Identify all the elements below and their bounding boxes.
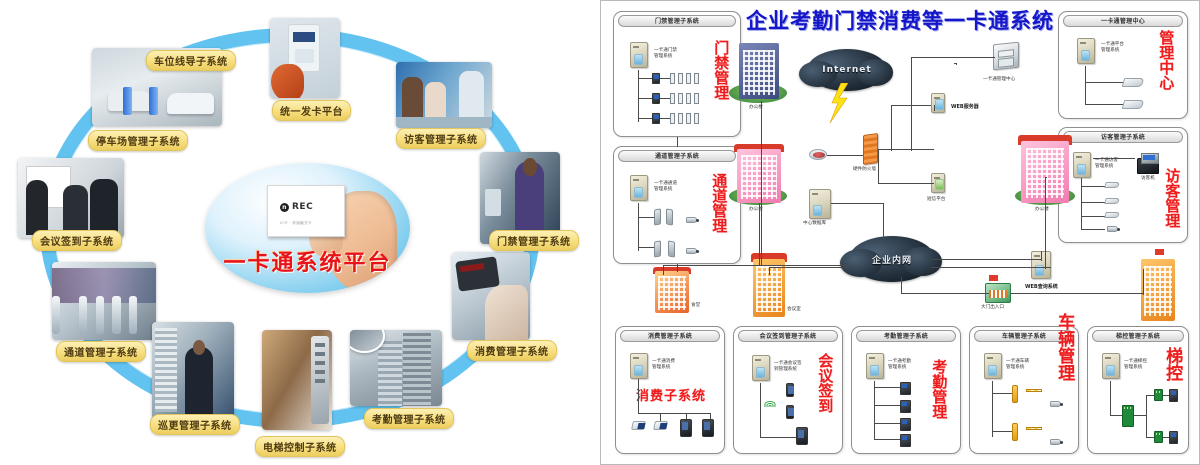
door-icon (686, 93, 691, 104)
barrier-post-icon (1012, 385, 1018, 403)
intranet-cloud-label: 企业内网 (849, 236, 935, 282)
photo-visitor-reception (396, 62, 492, 128)
door-icon (678, 113, 683, 124)
controller-board-icon (1154, 431, 1163, 443)
reader-device-icon (1104, 212, 1120, 218)
panel-header-consumption: 消费管理子系统 (620, 330, 720, 342)
photo-patrol-guard (152, 322, 234, 420)
screenshot-canvas: n REC IC卡 · 非接触式卡 一卡通系统平台 (0, 0, 1200, 465)
entrance-flag-icon (989, 275, 998, 281)
server-icon (1073, 152, 1091, 178)
tag-parking-guide[interactable]: 车位线导子系统 (146, 50, 236, 71)
central-database-label: 中心数据库 (803, 221, 826, 227)
door-icon (694, 113, 699, 124)
server-icon (630, 42, 648, 68)
panel-header-management-center: 一卡通管理中心 (1063, 15, 1183, 27)
panel-elevator[interactable]: 梯控管理子系统 一卡通梯控管理系统 梯控 (1087, 326, 1189, 454)
camera-icon (686, 217, 697, 223)
photo-pos-terminal (452, 252, 530, 340)
turnstile-icon (666, 208, 673, 225)
tower-flag-icon (1155, 249, 1164, 255)
attendance-terminal-icon (900, 400, 911, 413)
sms-platform-label: 短信平台 (927, 197, 945, 203)
barrier-post-icon (1012, 423, 1018, 441)
internet-cloud-label: Internet (807, 49, 887, 91)
panel-attendance[interactable]: 考勤管理子系统 一卡通考勤管理系统 考勤管理 (851, 326, 961, 454)
photo-elevator-keypad (262, 330, 332, 430)
center-platform-title: 一卡通系统平台 (205, 245, 410, 277)
server-label-attendance: 一卡通考勤管理系统 (888, 359, 911, 371)
card-center-label: 一卡通管理中心 (983, 77, 1015, 83)
tag-visitor[interactable]: 访客管理子系统 (396, 128, 486, 149)
door-icon (694, 73, 699, 84)
tag-access[interactable]: 门禁管理子系统 (489, 230, 579, 251)
server-label-meeting: 一卡通会议签到管理系统 (774, 361, 802, 373)
server-icon (1077, 38, 1095, 64)
device-label-visitor-machine: 访客机 (1141, 176, 1155, 182)
rfid-card-image: n REC IC卡 · 非接触式卡 (267, 185, 345, 237)
router-icon (809, 149, 827, 160)
server-icon (866, 353, 884, 379)
camera-icon (686, 248, 697, 254)
tag-elevator[interactable]: 电梯控制子系统 (255, 436, 345, 457)
server-label-vehicle: 一卡通车辆管理系统 (1006, 359, 1029, 371)
pos-terminal-icon (653, 421, 668, 430)
camera-icon (1050, 401, 1061, 407)
elevator-reader-icon (1169, 431, 1178, 444)
door-icon (686, 113, 691, 124)
firewall-label: 硬件防火墙 (853, 167, 876, 173)
signin-terminal-icon (796, 427, 808, 445)
visitor-terminal-icon (1137, 158, 1159, 174)
turnstile-icon (654, 240, 661, 257)
web-server-label: WEB服务器 (951, 103, 979, 110)
consumption-terminal-icon (702, 419, 714, 437)
mobile-signin-icon (786, 383, 794, 397)
server-icon (1102, 353, 1120, 379)
panel-accent-elevator: 梯控 (1164, 347, 1180, 381)
photo-office-tower (350, 330, 442, 406)
server-icon (984, 353, 1002, 379)
door-icon (670, 113, 675, 124)
attendance-terminal-icon (900, 418, 911, 431)
barrier-arm-icon (1026, 427, 1042, 430)
panel-header-visitor-mgmt: 访客管理子系统 (1063, 131, 1183, 143)
server-label-access: 一卡通门禁管理系统 (654, 48, 677, 60)
internet-cloud: Internet (807, 49, 887, 91)
wifi-icon (764, 401, 776, 410)
tag-consume[interactable]: 消费管理子系统 (467, 340, 557, 361)
card-reader-icon (652, 93, 660, 104)
panel-header-channel-control: 通道管理子系统 (618, 150, 736, 162)
panel-meeting-signin[interactable]: 会议签到管理子系统 一卡通会议签到管理系统 会议签到 (733, 326, 843, 454)
photo-turnstile-gate (52, 262, 156, 340)
elevator-reader-icon (1169, 389, 1178, 402)
server-label-elevator: 一卡通梯控管理系统 (1124, 359, 1147, 371)
tag-patrol[interactable]: 巡更管理子系统 (150, 414, 240, 435)
office-building-pink-left-icon (737, 149, 781, 203)
tag-card-issue[interactable]: 统一发卡平台 (272, 100, 351, 121)
turnstile-icon (668, 240, 675, 257)
panel-header-elevator: 梯控管理子系统 (1092, 330, 1184, 342)
door-icon (670, 73, 675, 84)
card-logo-mark: n (280, 203, 289, 212)
turnstile-icon (654, 208, 661, 225)
central-database-icon (809, 189, 831, 219)
canteen-label: 食堂 (691, 303, 700, 309)
panel-accent-center: 管理中心 (1159, 30, 1173, 90)
office-pink-right-label: 办公楼 (1035, 207, 1049, 213)
panel-accent-attendance: 考勤管理 (932, 359, 946, 419)
center-platform-oval: n REC IC卡 · 非接触式卡 一卡通系统平台 (205, 163, 410, 293)
intranet-cloud: 企业内网 (849, 236, 935, 282)
main-entrance-label: 大门出入口 (981, 305, 1004, 311)
panel-accent-access-control: 门禁管理 (714, 40, 728, 100)
door-icon (678, 93, 683, 104)
panel-header-meeting-signin: 会议签到管理子系统 (738, 330, 838, 342)
server-label-center: 一卡通平台管理系统 (1101, 42, 1124, 54)
card-logo-text: REC (292, 202, 313, 212)
photo-meeting-room (18, 158, 124, 238)
tag-attendance[interactable]: 考勤管理子系统 (364, 408, 454, 429)
firewall-icon (863, 133, 878, 165)
card-brand-logo: n REC (280, 202, 344, 212)
server-label-visitor: 一卡通访客管理系统 (1095, 158, 1118, 170)
reader-device-icon (1122, 78, 1145, 87)
panel-channel-control[interactable]: 通道管理子系统 一卡通通道管理系统 通道管理 (613, 146, 741, 264)
attendance-terminal-icon (900, 434, 911, 447)
door-icon (686, 73, 691, 84)
panel-accent-channel: 通道管理 (712, 173, 726, 233)
mobile-signin-icon (786, 405, 794, 419)
panel-accent-vehicle: 车辆管理 (1056, 313, 1072, 381)
door-icon (694, 93, 699, 104)
tag-channel[interactable]: 通道管理子系统 (56, 341, 146, 362)
web-query-label: WEB查询系统 (1025, 283, 1058, 290)
controller-board-icon (1154, 389, 1163, 401)
door-icon (678, 73, 683, 84)
server-label-consumption: 一卡通消费管理系统 (652, 359, 675, 371)
consumption-terminal-icon (680, 419, 692, 437)
server-icon (752, 355, 770, 381)
panel-visitor-mgmt[interactable]: 访客管理子系统 一卡通访客管理系统 访客机 访客管理 (1058, 127, 1188, 243)
office-building-blue-icon (739, 43, 779, 99)
panel-accent-visitor: 访客管理 (1165, 168, 1179, 228)
reader-device-icon (1122, 100, 1145, 109)
server-label-channel: 一卡通通道管理系统 (654, 181, 677, 193)
card-subtext: IC卡 · 非接触式卡 (280, 221, 344, 226)
panel-header-attendance: 考勤管理子系统 (856, 330, 956, 342)
door-icon (670, 93, 675, 104)
panel-management-center[interactable]: 一卡通管理中心 一卡通平台管理系统 管理中心 (1058, 11, 1188, 119)
tower-building-icon (1141, 259, 1175, 321)
reader-device-icon (1104, 182, 1120, 188)
panel-header-access-control: 门禁管理子系统 (618, 15, 736, 27)
panel-consumption[interactable]: 消费管理子系统 一卡通消费管理系统 消费子系统 (615, 326, 725, 454)
tag-meeting[interactable]: 会议签到子系统 (32, 230, 122, 251)
barrier-arm-icon (1026, 389, 1042, 392)
panel-vehicle[interactable]: 车辆管理子系统 一卡通车辆管理系统 车辆管理 (969, 326, 1079, 454)
attendance-terminal-icon (900, 382, 911, 395)
controller-board-icon (1122, 405, 1134, 427)
panel-accent-meeting: 会议签到 (818, 353, 832, 413)
canteen-building-icon (655, 271, 689, 313)
enterprise-one-card-topology-diagram: 企业考勤门禁消费等一卡通系统 门禁管理子系统 一卡通门禁管理系统 门禁管理 (600, 0, 1200, 465)
tag-parking-mgmt[interactable]: 停车场管理子系统 (88, 130, 188, 151)
meeting-room-label: 会议室 (787, 307, 801, 313)
server-icon (630, 175, 648, 201)
one-card-platform-wheel-diagram: n REC IC卡 · 非接触式卡 一卡通系统平台 (0, 0, 600, 465)
card-reader-icon (652, 113, 660, 124)
server-icon (630, 353, 648, 379)
panel-access-control[interactable]: 门禁管理子系统 一卡通门禁管理系统 门禁管理 (613, 11, 741, 137)
card-reader-icon (652, 73, 660, 84)
photo-card-issuing (270, 18, 340, 98)
panel-accent-consumption: 消费子系统 (636, 385, 706, 404)
card-center-mainframe-icon (993, 42, 1019, 71)
camera-icon (1107, 226, 1118, 232)
reader-device-icon (1104, 198, 1120, 204)
pos-terminal-icon (631, 421, 646, 430)
camera-icon (1050, 439, 1061, 445)
